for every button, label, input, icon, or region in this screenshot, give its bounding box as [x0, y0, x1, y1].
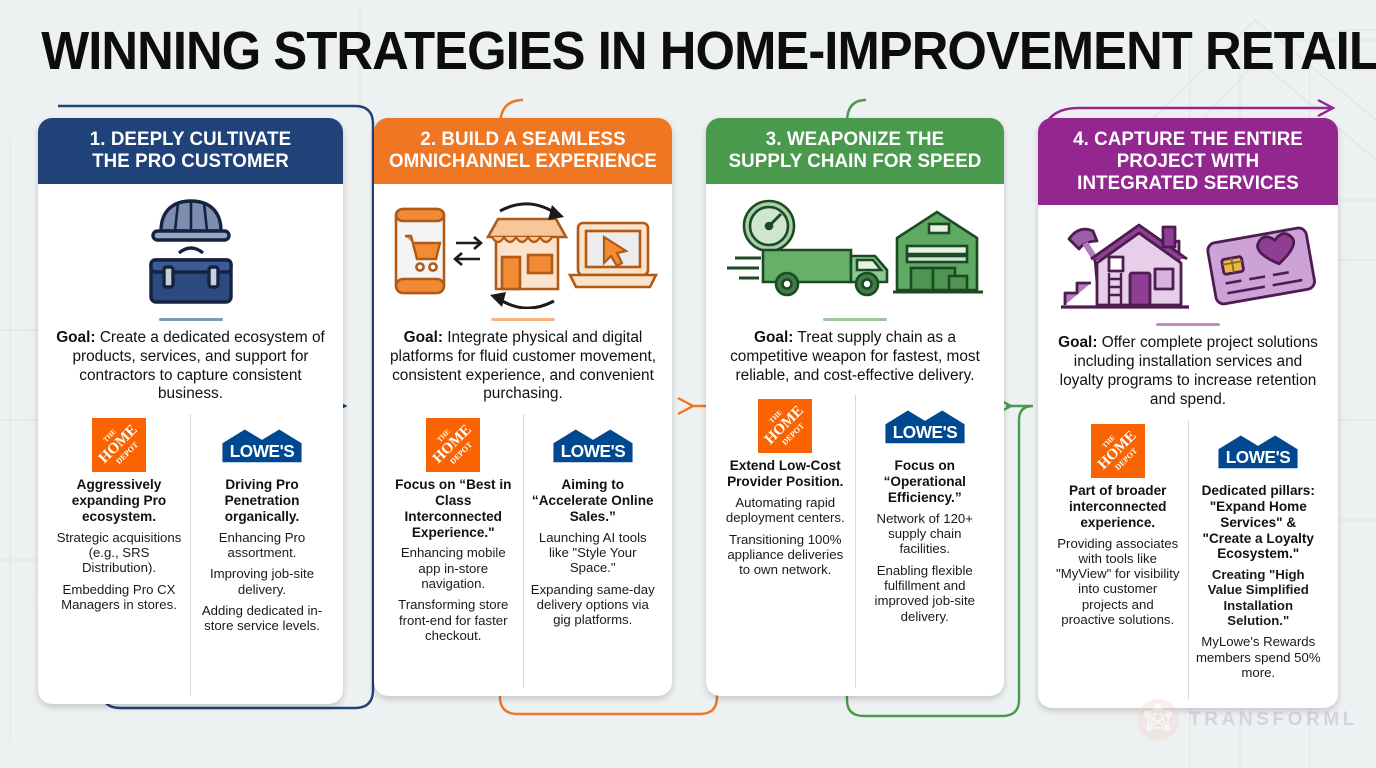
home-depot-logo: THE HOME DEPOT [92, 420, 146, 470]
card-3-goal: Goal: Treat supply chain as a competitiv… [716, 329, 994, 396]
card-1-goal: Goal: Create a dedicated ecosystem of pr… [48, 329, 333, 415]
card-2-brand-lowes: LOWE'S Aiming to “Accelerate Online Sale… [524, 414, 663, 688]
strategy-card-4[interactable]: 4. CAPTURE THE ENTIREPROJECT WITHINTEGRA… [1038, 118, 1338, 708]
card-1-brand-split: THE HOME DEPOT Aggressively expanding Pr… [48, 414, 333, 696]
card-2-header: 2. BUILD A SEAMLESSOMNICHANNEL EXPERIENC… [374, 118, 672, 184]
brand-headline: Driving Pro Penetration organically. [197, 477, 327, 524]
transforml-logo-icon [1136, 698, 1180, 742]
brand-headline: Dedicated pillars: "Expand Home Services… [1195, 483, 1323, 562]
svg-text:LOWE'S: LOWE'S [560, 441, 625, 461]
brand-point: Strategic acquisitions (e.g., SRS Distri… [54, 530, 184, 576]
card-4-goal: Goal: Offer complete project solutions i… [1048, 334, 1328, 420]
brand-point: Expanding same-day delivery options via … [530, 582, 657, 628]
infographic-stage: WINNING STRATEGIES IN HOME-IMPROVEMENT R… [0, 0, 1376, 768]
brand-headline: Extend Low-Cost Provider Position. [722, 458, 849, 490]
brand-point: Transforming store front-end for faster … [390, 597, 517, 643]
hardhat-toolbox-icon [48, 184, 333, 316]
brand-headline: Aiming to “Accelerate Online Sales.” [530, 477, 657, 524]
lowes-logo: LOWE'S [882, 401, 968, 451]
strategy-card-3[interactable]: 3. WEAPONIZE THESUPPLY CHAIN FOR SPEED [706, 118, 1004, 696]
omnichannel-phone-store-laptop-icon [384, 184, 662, 316]
svg-text:LOWE'S: LOWE'S [892, 423, 957, 443]
card-4-body: Goal: Offer complete project solutions i… [1038, 205, 1338, 708]
lowes-logo: LOWE'S [219, 420, 305, 470]
brand-point: MyLowe's Rewards members spend 50% more. [1195, 634, 1323, 680]
divider-rule-3 [823, 318, 887, 321]
lowes-logo: LOWE'S [1215, 426, 1301, 476]
card-3-brand-lowes: LOWE'S Focus on “Operational Efficiency.… [856, 395, 995, 688]
card-2-goal: Goal: Integrate physical and digital pla… [384, 329, 662, 415]
home-depot-logo: THE HOME DEPOT [758, 401, 812, 451]
card-1-body: Goal: Create a dedicated ecosystem of pr… [38, 184, 343, 704]
connector-arrow-4 [1318, 100, 1333, 116]
strategy-card-2[interactable]: 2. BUILD A SEAMLESSOMNICHANNEL EXPERIENC… [374, 118, 672, 696]
brand-point: Creating "High Value Simplified Installa… [1195, 567, 1323, 628]
brand-headline: Part of broader interconnected experienc… [1054, 483, 1182, 530]
home-depot-logo: THE HOME DEPOT [1091, 426, 1145, 476]
strategy-card-1[interactable]: 1. DEEPLY CULTIVATETHE PRO CUSTOMER [38, 118, 343, 704]
brand-point: Providing associates with tools like "My… [1054, 536, 1182, 628]
svg-text:LOWE'S: LOWE'S [1226, 447, 1291, 467]
card-3-brand-home-depot: THE HOME DEPOT Extend Low-Cost Provider … [716, 395, 856, 688]
strategy-cards: 1. DEEPLY CULTIVATETHE PRO CUSTOMER [0, 118, 1376, 718]
transforml-watermark: TRANSFORML [1136, 698, 1358, 742]
brand-point: Automating rapid deployment centers. [722, 495, 849, 526]
card-2-body: Goal: Integrate physical and digital pla… [374, 184, 672, 696]
house-hammer-loyalty-card-icon [1048, 205, 1328, 321]
brand-headline: Aggressively expanding Pro ecosystem. [54, 477, 184, 524]
home-depot-logo: THE HOME DEPOT [426, 420, 480, 470]
page-title: WINNING STRATEGIES IN HOME-IMPROVEMENT R… [41, 24, 1334, 78]
card-3-brand-split: THE HOME DEPOT Extend Low-Cost Provider … [716, 395, 994, 688]
brand-point: Improving job-site delivery. [197, 566, 327, 597]
card-2-brand-split: THE HOME DEPOT Focus on “Best in Class I… [384, 414, 662, 688]
brand-point: Transitioning 100% appliance deliveries … [722, 532, 849, 578]
card-3-body: Goal: Treat supply chain as a competitiv… [706, 184, 1004, 696]
card-1-brand-lowes: LOWE'S Driving Pro Penetration organical… [191, 414, 333, 696]
watermark-text: TRANSFORML [1189, 709, 1358, 731]
card-1-brand-home-depot: THE HOME DEPOT Aggressively expanding Pr… [48, 414, 191, 696]
delivery-truck-warehouse-icon [716, 184, 994, 316]
lowes-logo: LOWE'S [550, 420, 636, 470]
card-4-brand-lowes: LOWE'S Dedicated pillars: "Expand Home S… [1189, 420, 1329, 700]
brand-point: Network of 120+ supply chain facilities. [862, 511, 989, 557]
card-4-header: 4. CAPTURE THE ENTIREPROJECT WITHINTEGRA… [1038, 118, 1338, 205]
brand-point: Embedding Pro CX Managers in stores. [54, 582, 184, 613]
brand-point: Enhancing mobile app in-store navigation… [390, 545, 517, 591]
divider-rule-2 [491, 318, 555, 321]
divider-rule-4 [1156, 323, 1220, 326]
card-4-brand-home-depot: THE HOME DEPOT Part of broader interconn… [1048, 420, 1189, 700]
card-2-brand-home-depot: THE HOME DEPOT Focus on “Best in Class I… [384, 414, 524, 688]
card-3-header: 3. WEAPONIZE THESUPPLY CHAIN FOR SPEED [706, 118, 1004, 184]
divider-rule-1 [159, 318, 223, 321]
brand-point: Adding dedicated in-store service levels… [197, 603, 327, 634]
brand-point: Enabling flexible fulfillment and improv… [862, 563, 989, 624]
brand-headline: Focus on “Operational Efficiency.” [862, 458, 989, 505]
card-1-header: 1. DEEPLY CULTIVATETHE PRO CUSTOMER [38, 118, 343, 184]
brand-point: Launching AI tools like "Style Your Spac… [530, 530, 657, 576]
brand-headline: Focus on “Best in Class Interconnected E… [390, 477, 517, 540]
card-4-brand-split: THE HOME DEPOT Part of broader interconn… [1048, 420, 1328, 700]
brand-point: Enhancing Pro assortment. [197, 530, 327, 561]
svg-text:LOWE'S: LOWE'S [230, 441, 295, 461]
